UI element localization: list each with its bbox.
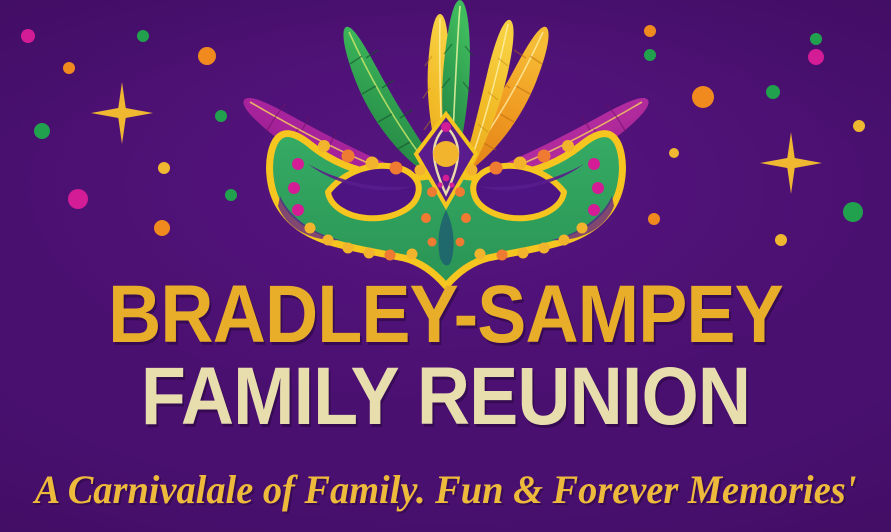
sparkle-star-icon <box>91 82 153 144</box>
confetti-dot <box>154 220 170 236</box>
mardi-gras-mask-icon <box>236 0 656 292</box>
page-title-line2: FAMILY REUNION <box>46 356 846 438</box>
confetti-dot <box>137 30 149 42</box>
confetti-dot <box>808 49 824 65</box>
reunion-banner-poster: BRADLEY-SAMPEY FAMILY REUNION A Carnival… <box>0 0 891 532</box>
confetti-dot <box>63 62 75 74</box>
page-title-line1: BRADLEY-SAMPEY <box>46 276 846 354</box>
confetti-dot <box>158 162 170 174</box>
confetti-dot <box>669 148 679 158</box>
confetti-dot <box>21 29 35 43</box>
confetti-dot <box>853 120 865 132</box>
confetti-dot <box>34 123 50 139</box>
headline-block: BRADLEY-SAMPEY FAMILY REUNION <box>0 276 891 438</box>
confetti-dot <box>692 86 714 108</box>
confetti-dot <box>68 189 88 209</box>
confetti-dot <box>775 234 787 246</box>
confetti-dot <box>198 47 216 65</box>
confetti-dot <box>215 110 227 122</box>
confetti-dot <box>843 202 863 222</box>
confetti-dot <box>766 85 780 99</box>
sparkle-star-icon <box>760 132 822 194</box>
confetti-dot <box>810 33 822 45</box>
tagline-text: A Carnivalale of Family. Fun & Forever M… <box>18 470 873 510</box>
